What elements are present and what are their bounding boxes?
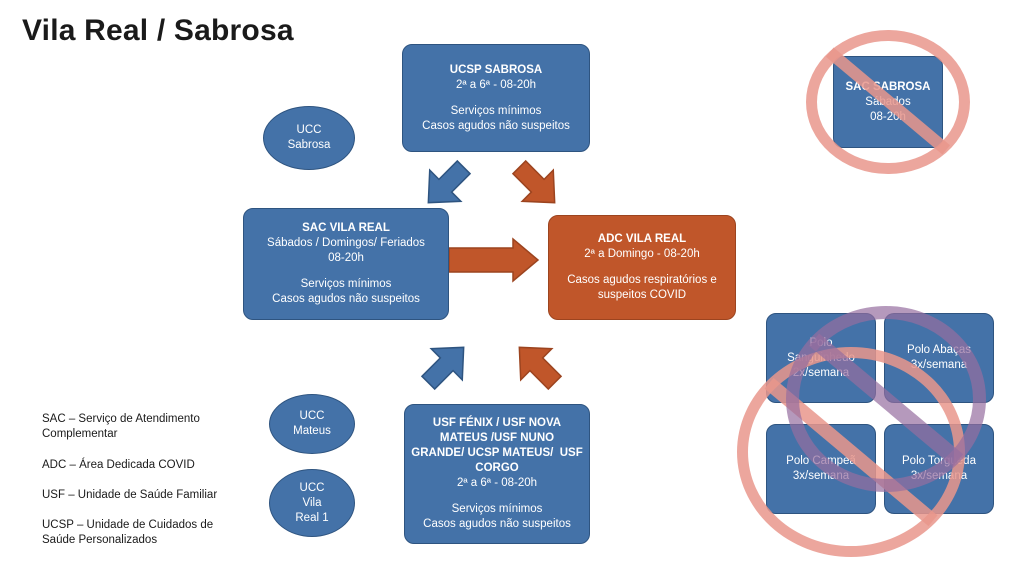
node-ucc-sabrosa[interactable]: UCC Sabrosa <box>263 106 355 170</box>
ucc-mateus-line1: UCC <box>300 409 325 424</box>
legend-adc-line1: ADC – Área Dedicada COVID <box>42 458 257 473</box>
node-ucc-vila-real-1[interactable]: UCC Vila Real 1 <box>269 469 355 537</box>
legend-adc: ADC – Área Dedicada COVID <box>42 458 257 473</box>
ucc-vila-real-1-line2: Vila <box>303 496 322 511</box>
ucsp-sabrosa-line4: Casos agudos não suspeitos <box>422 119 570 134</box>
sac-vila-real-line3: 08-20h <box>328 251 364 266</box>
arrow-usf-to-sac <box>413 332 479 398</box>
usf-fenix-line4: CORGO <box>475 461 518 476</box>
sac-vila-real-line2: Sábados / Domingos/ Feriados <box>267 236 425 251</box>
legend-ucsp-line2: Saúde Personalizados <box>42 533 257 548</box>
usf-fenix-line3: GRANDE/ UCSP MATEUS/ USF <box>411 446 582 461</box>
arrow-usf-to-adc <box>504 332 570 398</box>
sac-vila-real-line5: Casos agudos não suspeitos <box>272 292 420 307</box>
legend-usf-line1: USF – Unidade de Saúde Familiar <box>42 488 257 503</box>
adc-vila-real-line2: 2ª a Domingo - 08-20h <box>584 247 700 262</box>
diagram-canvas: Vila Real / Sabrosa UCSP SABROSA 2ª a 6ª… <box>0 0 1024 576</box>
ucc-sabrosa-line2: Sabrosa <box>288 138 331 153</box>
ucsp-sabrosa-line2: 2ª a 6ª - 08-20h <box>456 78 536 93</box>
legend-usf: USF – Unidade de Saúde Familiar <box>42 488 257 503</box>
usf-fenix-line7: Casos agudos não suspeitos <box>423 517 571 532</box>
node-sac-vila-real[interactable]: SAC VILA REAL Sábados / Domingos/ Feriad… <box>243 208 449 320</box>
adc-vila-real-line4: suspeitos COVID <box>598 288 686 303</box>
node-ucc-mateus[interactable]: UCC Mateus <box>269 394 355 454</box>
ucc-mateus-line2: Mateus <box>293 424 331 439</box>
ucsp-sabrosa-line3: Serviços mínimos <box>451 104 542 119</box>
adc-vila-real-line3: Casos agudos respiratórios e <box>567 273 717 288</box>
legend-sac-line1: SAC – Serviço de Atendimento <box>42 412 257 427</box>
ucc-vila-real-1-line1: UCC <box>300 481 325 496</box>
legend-sac-line2: Complementar <box>42 427 257 442</box>
arrow-sac-to-adc <box>449 239 538 281</box>
node-usf-fenix[interactable]: USF FÉNIX / USF NOVA MATEUS /USF NUNO GR… <box>404 404 590 544</box>
node-ucsp-sabrosa[interactable]: UCSP SABROSA 2ª a 6ª - 08-20h Serviços m… <box>402 44 590 152</box>
usf-fenix-line5: 2ª a 6ª - 08-20h <box>457 476 537 491</box>
usf-fenix-line6: Serviços mínimos <box>452 502 543 517</box>
ucc-sabrosa-line1: UCC <box>297 123 322 138</box>
sac-vila-real-line1: SAC VILA REAL <box>302 221 390 236</box>
legend-ucsp-line1: UCSP – Unidade de Cuidados de <box>42 518 257 533</box>
ucc-vila-real-1-line3: Real 1 <box>295 511 328 526</box>
adc-vila-real-line1: ADC VILA REAL <box>598 232 686 247</box>
usf-fenix-line2: MATEUS /USF NUNO <box>440 431 554 446</box>
arrow-ucsp-to-adc <box>504 152 570 218</box>
legend-sac: SAC – Serviço de Atendimento Complementa… <box>42 412 257 442</box>
node-adc-vila-real[interactable]: ADC VILA REAL 2ª a Domingo - 08-20h Caso… <box>548 215 736 320</box>
usf-fenix-line1: USF FÉNIX / USF NOVA <box>433 416 561 431</box>
legend-ucsp: UCSP – Unidade de Cuidados de Saúde Pers… <box>42 518 257 548</box>
ucsp-sabrosa-line1: UCSP SABROSA <box>450 63 542 78</box>
sac-vila-real-line4: Serviços mínimos <box>301 277 392 292</box>
